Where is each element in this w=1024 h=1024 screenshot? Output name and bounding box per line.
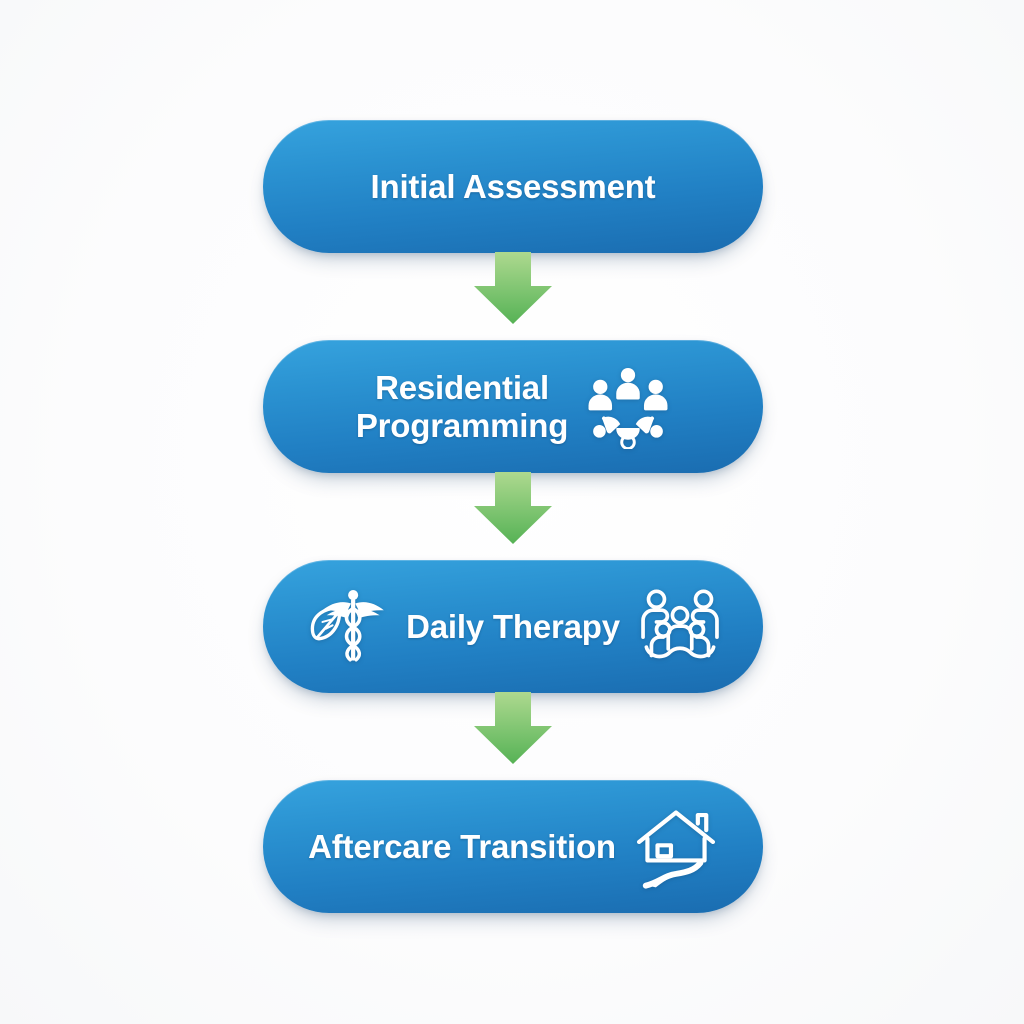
flow-node-content: Residential Programming bbox=[263, 365, 763, 449]
flow-node-label: Daily Therapy bbox=[406, 608, 620, 645]
down-arrow-icon bbox=[474, 252, 552, 324]
down-arrow-icon bbox=[474, 692, 552, 764]
flow-node-initial-assessment[interactable]: Initial Assessment bbox=[263, 120, 763, 253]
flow-node-aftercare-transition[interactable]: Aftercare Transition bbox=[263, 780, 763, 913]
flow-node-label: Aftercare Transition bbox=[308, 828, 616, 865]
down-arrow-icon bbox=[474, 472, 552, 544]
flow-node-label: Residential Programming bbox=[356, 369, 568, 444]
group-people-icon bbox=[586, 365, 670, 449]
family-group-icon bbox=[638, 585, 722, 669]
caduceus-leaf-icon bbox=[304, 585, 388, 669]
flow-node-content: Daily Therapy bbox=[263, 585, 763, 669]
flow-node-content: Aftercare Transition bbox=[263, 805, 763, 889]
flowchart-diagram: Initial Assessment Residential Programmi… bbox=[0, 0, 1024, 1024]
flow-node-content: Initial Assessment bbox=[263, 168, 763, 205]
flow-node-label: Initial Assessment bbox=[371, 168, 656, 205]
flow-node-daily-therapy[interactable]: Daily Therapy bbox=[263, 560, 763, 693]
house-path-icon bbox=[634, 805, 718, 889]
flow-node-residential-programming[interactable]: Residential Programming bbox=[263, 340, 763, 473]
